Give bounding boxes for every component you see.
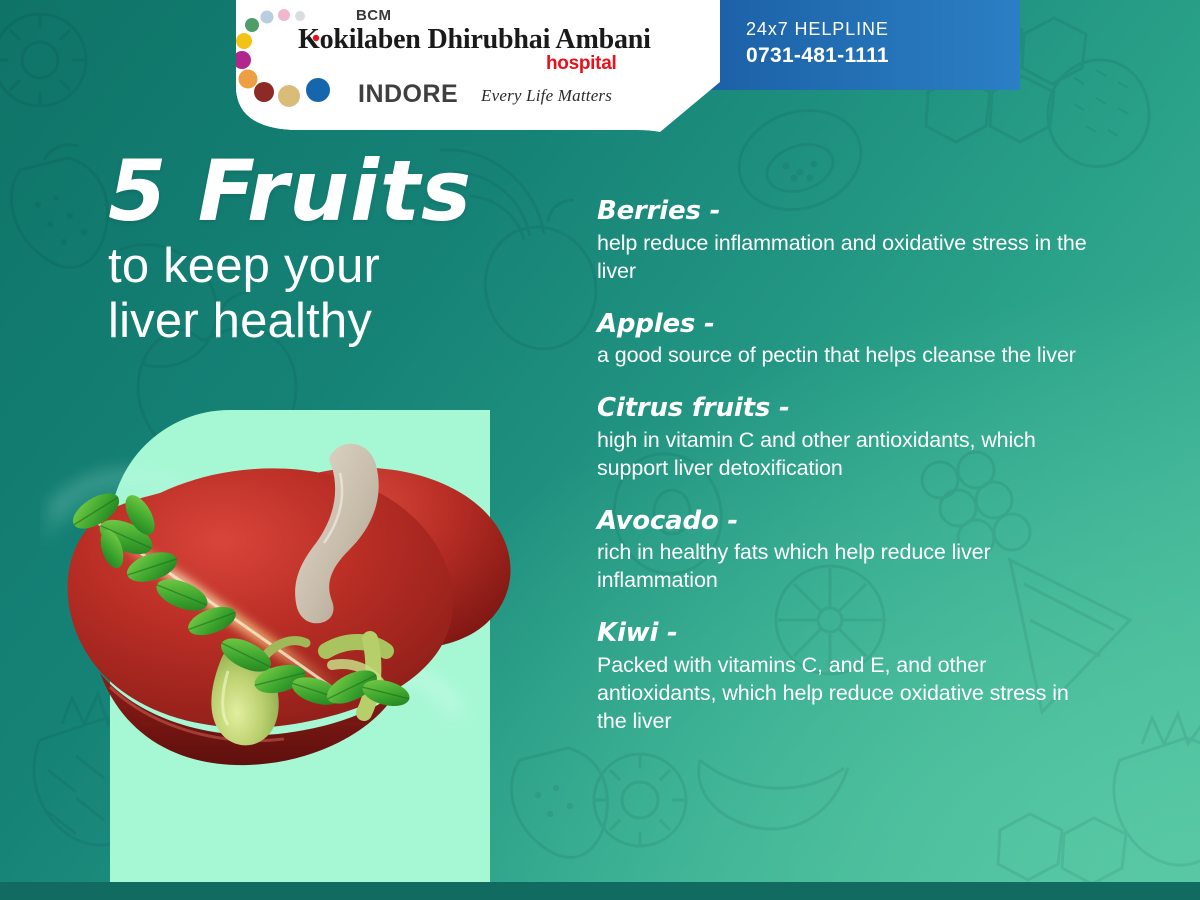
fruit-name: Berries - [597, 196, 1097, 227]
headline-line-1: 5 Fruits [108, 152, 578, 231]
fruit-list: Berries - help reduce inflammation and o… [597, 196, 1097, 736]
fruit-description: high in vitamin C and other antioxidants… [597, 427, 1097, 483]
fruit-description: a good source of pectin that helps clean… [597, 342, 1097, 370]
fruit-name: Apples - [597, 309, 1097, 340]
footer-bar [0, 882, 1200, 900]
helpline-label: 24x7 HELPLINE [746, 18, 889, 41]
logo-bcm-label: BCM [356, 7, 391, 24]
list-item: Kiwi - Packed with vitamins C, and E, an… [597, 618, 1097, 735]
helpline-number[interactable]: 0731-481-1111 [746, 43, 889, 69]
liver-illustration [40, 425, 540, 825]
logo-panel-shape [0, 0, 720, 134]
logo-hospital-word: hospital [546, 53, 616, 75]
fruit-name: Citrus fruits - [597, 393, 1097, 424]
fruit-name: Avocado - [597, 506, 1097, 537]
list-item: Berries - help reduce inflammation and o… [597, 196, 1097, 286]
fruit-description: rich in healthy fats which help reduce l… [597, 539, 1097, 595]
headline-line-2: to keep your [108, 239, 578, 294]
fruit-name: Kiwi - [597, 618, 1097, 649]
hospital-logo: BCM Kokilaben Dhirubhai Ambani hospital … [236, 0, 666, 128]
infographic-canvas: BCM Kokilaben Dhirubhai Ambani hospital … [0, 0, 1200, 900]
logo-tagline: Every Life Matters [481, 86, 612, 106]
list-item: Apples - a good source of pectin that he… [597, 309, 1097, 371]
logo-hospital-name: Kokilaben Dhirubhai Ambani [298, 24, 651, 56]
fruit-description: Packed with vitamins C, and E, and other… [597, 652, 1097, 736]
helpline-banner-shape [600, 0, 1020, 90]
list-item: Citrus fruits - high in vitamin C and ot… [597, 393, 1097, 483]
header: BCM Kokilaben Dhirubhai Ambani hospital … [0, 0, 1200, 140]
page-title: 5 Fruits to keep your liver healthy [108, 152, 578, 349]
helpline-block: 24x7 HELPLINE 0731-481-1111 [746, 18, 889, 69]
logo-city-label: INDORE [358, 80, 458, 109]
fruit-description: help reduce inflammation and oxidative s… [597, 230, 1097, 286]
list-item: Avocado - rich in healthy fats which hel… [597, 506, 1097, 596]
headline-line-3: liver healthy [108, 294, 578, 349]
logo-dots-icon [236, 8, 348, 108]
